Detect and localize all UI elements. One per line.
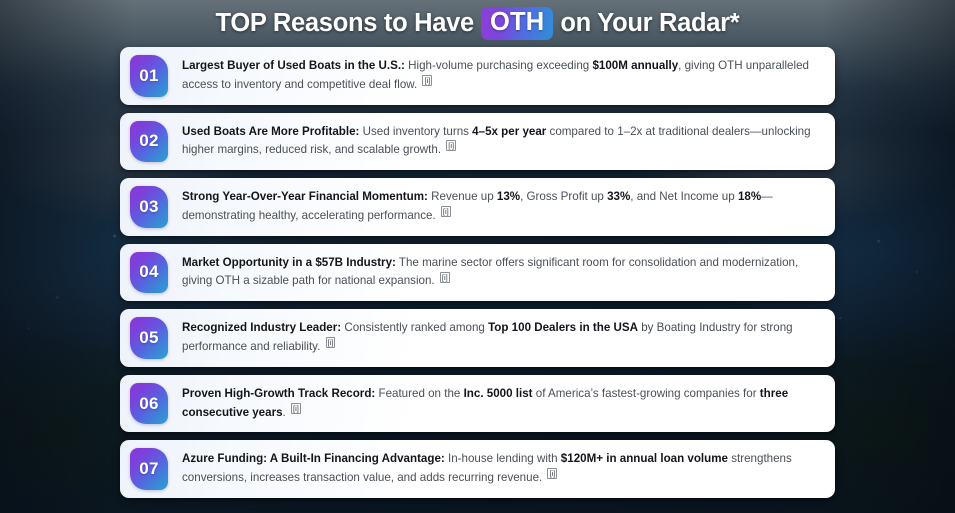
reason-card[interactable]: 03Strong Year-Over-Year Financial Moment… [120, 178, 835, 236]
reason-card[interactable]: 05Recognized Industry Leader: Consistent… [120, 309, 835, 367]
oth-brand-badge: OTH [481, 7, 553, 40]
reason-text: Recognized Industry Leader: Consistently… [182, 319, 819, 357]
citation-marker[interactable]: [i] [326, 337, 336, 348]
reason-text: Strong Year-Over-Year Financial Momentum… [182, 188, 819, 226]
reason-number-badge: 05 [130, 317, 168, 359]
reason-number-badge: 01 [130, 55, 168, 97]
reason-body-text: Consistently ranked among [341, 321, 488, 334]
reason-card-body: Used Boats Are More Profitable: Used inv… [168, 113, 835, 171]
citation-marker[interactable]: [i] [441, 206, 451, 217]
reason-number-badge: 06 [130, 383, 168, 425]
reason-lead: Used Boats Are More Profitable: [182, 125, 359, 138]
reason-number-badge: 03 [130, 186, 168, 228]
header: TOP Reasons to Have OTH on Your Radar* [0, 0, 955, 47]
reason-body-text: Featured on the [375, 387, 463, 400]
reason-body-text: In-house lending with [445, 452, 561, 465]
reason-card[interactable]: 01Largest Buyer of Used Boats in the U.S… [120, 47, 835, 105]
reason-card[interactable]: 02Used Boats Are More Profitable: Used i… [120, 113, 835, 171]
reason-lead: Market Opportunity in a $57B Industry: [182, 256, 396, 269]
reason-card[interactable]: 07Azure Funding: A Built-In Financing Ad… [120, 440, 835, 498]
reason-text: Market Opportunity in a $57B Industry: T… [182, 254, 819, 292]
reason-text: Largest Buyer of Used Boats in the U.S.:… [182, 57, 819, 95]
reason-card[interactable]: 04Market Opportunity in a $57B Industry:… [120, 244, 835, 302]
reason-lead: Strong Year-Over-Year Financial Momentum… [182, 190, 428, 203]
reason-card-body: Strong Year-Over-Year Financial Momentum… [168, 178, 835, 236]
citation-marker[interactable]: [i] [446, 140, 456, 151]
reason-lead: Proven High-Growth Track Record: [182, 387, 375, 400]
reason-lead: Largest Buyer of Used Boats in the U.S.: [182, 59, 405, 72]
reason-highlight: 33% [607, 190, 630, 203]
citation-marker[interactable]: [i] [291, 403, 301, 414]
reason-body-text: High-volume purchasing exceeding [405, 59, 593, 72]
reason-highlight: Top 100 Dealers in the USA [488, 321, 638, 334]
reason-highlight: $120M+ in annual loan volume [561, 452, 728, 465]
reason-number-badge: 07 [130, 448, 168, 490]
title-text-after: on Your Radar* [560, 9, 739, 38]
reason-body-text: Revenue up [428, 190, 497, 203]
reason-card-body: Azure Funding: A Built-In Financing Adva… [168, 440, 835, 498]
title-text-before: TOP Reasons to Have [216, 9, 474, 38]
reason-lead: Azure Funding: A Built-In Financing Adva… [182, 452, 445, 465]
citation-marker[interactable]: [i] [547, 468, 557, 479]
reason-card-body: Largest Buyer of Used Boats in the U.S.:… [168, 47, 835, 105]
reason-text: Used Boats Are More Profitable: Used inv… [182, 123, 819, 161]
citation-marker[interactable]: [i] [422, 75, 432, 86]
reason-body-text: , and Net Income up [630, 190, 738, 203]
reason-highlight: 4–5x per year [472, 125, 546, 138]
reason-card-body: Proven High-Growth Track Record: Feature… [168, 375, 835, 433]
slide-root: TOP Reasons to Have OTH on Your Radar* 0… [0, 0, 955, 513]
reason-text: Azure Funding: A Built-In Financing Adva… [182, 450, 819, 488]
reason-text: Proven High-Growth Track Record: Feature… [182, 385, 819, 423]
reasons-list: 01Largest Buyer of Used Boats in the U.S… [0, 47, 955, 498]
reason-highlight: 18% [738, 190, 761, 203]
reason-body-text: , Gross Profit up [520, 190, 607, 203]
reason-highlight: 13% [497, 190, 520, 203]
reason-highlight: $100M annually [592, 59, 678, 72]
reason-card[interactable]: 06Proven High-Growth Track Record: Featu… [120, 375, 835, 433]
citation-marker[interactable]: [i] [440, 272, 450, 283]
reason-highlight: Inc. 5000 list [464, 387, 533, 400]
reason-number-badge: 02 [130, 121, 168, 163]
reason-body-text: . [283, 406, 289, 419]
reason-card-body: Recognized Industry Leader: Consistently… [168, 309, 835, 367]
reason-card-body: Market Opportunity in a $57B Industry: T… [168, 244, 835, 302]
reason-number-badge: 04 [130, 252, 168, 294]
reason-body-text: of America’s fastest-growing companies f… [533, 387, 760, 400]
page-title: TOP Reasons to Have OTH on Your Radar* [216, 7, 740, 40]
reason-body-text: Used inventory turns [359, 125, 472, 138]
reason-lead: Recognized Industry Leader: [182, 321, 341, 334]
